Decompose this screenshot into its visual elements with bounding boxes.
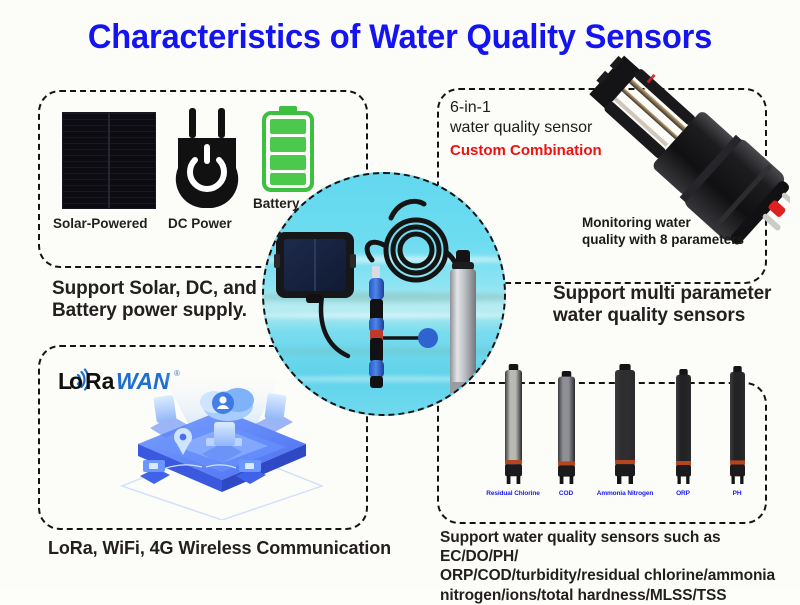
probe-label-0: Residual Chlorine bbox=[486, 490, 540, 497]
caption-power-line-2: Battery power supply. bbox=[52, 300, 257, 322]
solar-panel-icon bbox=[62, 112, 156, 209]
monitoring-note-line-2: quality with 8 parameters bbox=[582, 232, 744, 249]
probe-label-1: COD bbox=[559, 490, 573, 497]
probe-2 bbox=[615, 364, 635, 484]
label-solar-powered: Solar-Powered bbox=[53, 216, 148, 231]
probe-label-4: PH bbox=[733, 490, 742, 497]
monitoring-note-line-1: Monitoring water bbox=[582, 215, 744, 232]
caption-communication: LoRa, WiFi, 4G Wireless Communication bbox=[48, 538, 391, 559]
caption-probes-line-1: Support water quality sensors such as EC… bbox=[440, 528, 800, 566]
caption-multi-line-1: Support multi parameter bbox=[553, 283, 771, 305]
caption-multi-parameter: Support multi parameter water quality se… bbox=[553, 283, 771, 328]
caption-power-supply: Support Solar, DC, and Battery power sup… bbox=[52, 278, 257, 323]
probe-0 bbox=[505, 364, 522, 484]
custom-combination-note: Custom Combination bbox=[450, 142, 602, 159]
heading-water-quality-sensor: water quality sensor bbox=[450, 118, 602, 138]
caption-power-line-1: Support Solar, DC, and bbox=[52, 278, 257, 300]
caption-probes-line-2: ORP/COD/turbidity/residual chlorine/ammo… bbox=[440, 566, 800, 585]
probe-label-2: Ammonia Nitrogen bbox=[597, 490, 654, 497]
svg-text:o: o bbox=[69, 368, 83, 394]
probe-3 bbox=[676, 369, 691, 484]
label-dc-power: DC Power bbox=[168, 216, 232, 231]
probe-4 bbox=[730, 366, 745, 484]
infographic-canvas: Characteristics of Water Quality Sensors… bbox=[0, 0, 800, 587]
caption-probes-line-3: nitrogen/ions/total hardness/MLSS/TSS bbox=[440, 586, 800, 605]
probe-1 bbox=[558, 371, 575, 484]
multi-parameter-heading: 6-in-1 water quality sensor Custom Combi… bbox=[450, 98, 602, 159]
dc-power-plug-icon bbox=[172, 108, 242, 208]
page-title: Characteristics of Water Quality Sensors bbox=[16, 18, 784, 57]
caption-multi-line-2: water quality sensors bbox=[553, 305, 771, 327]
caption-probe-types: Support water quality sensors such as EC… bbox=[440, 528, 800, 605]
probe-label-3: ORP bbox=[676, 490, 690, 497]
monitoring-parameters-note: Monitoring water quality with 8 paramete… bbox=[582, 215, 744, 249]
center-water-scene bbox=[262, 172, 506, 416]
heading-six-in-one: 6-in-1 bbox=[450, 98, 602, 118]
